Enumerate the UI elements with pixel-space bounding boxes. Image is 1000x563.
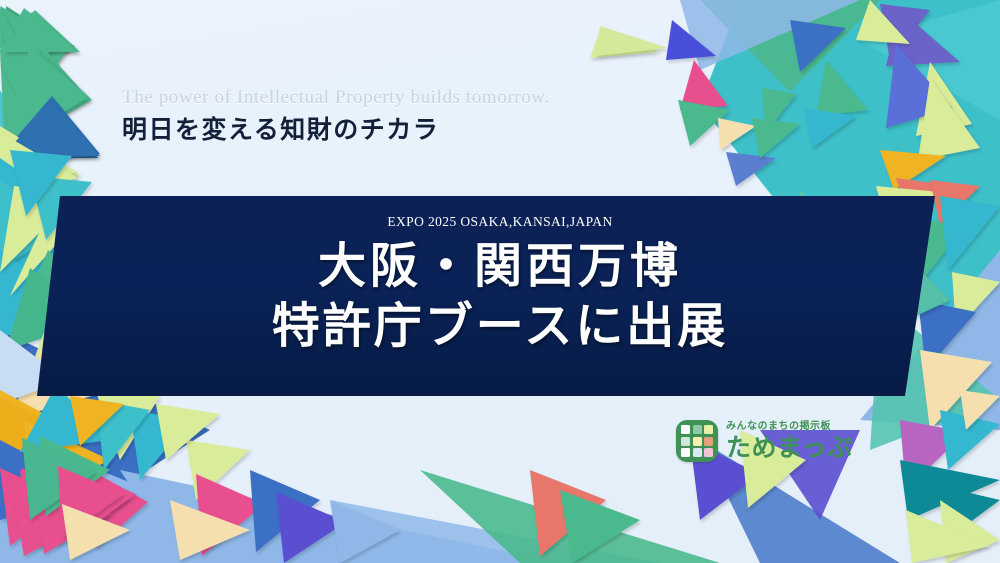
logo-tile-7 — [681, 448, 690, 457]
headline-line-1: 大阪・関西万博 — [318, 238, 682, 294]
logo-tile-2 — [693, 425, 702, 434]
main-banner: EXPO 2025 OSAKA,KANSAI,JAPAN 大阪・関西万博 特許庁… — [0, 196, 1000, 396]
logo-tile-4 — [681, 437, 690, 446]
tagline-english: The power of Intellectual Property build… — [122, 88, 550, 109]
banner-headline: 大阪・関西万博 特許庁ブースに出展 — [272, 236, 729, 357]
logo-wordmark: ためまっぷ — [726, 435, 853, 460]
tagline-block: The power of Intellectual Property build… — [122, 88, 550, 143]
tamemap-logo[interactable]: みんなのまちの掲示板 ためまっぷ — [676, 420, 853, 462]
tagline-japanese: 明日を変える知財のチカラ — [122, 116, 550, 144]
logo-subtitle: みんなのまちの掲示板 — [726, 422, 853, 432]
logo-tile-5 — [693, 437, 702, 446]
expo-eyebrow-text: EXPO 2025 OSAKA,KANSAI,JAPAN — [387, 214, 612, 230]
banner-content: EXPO 2025 OSAKA,KANSAI,JAPAN 大阪・関西万博 特許庁… — [0, 196, 1000, 396]
tamemap-logo-icon — [676, 420, 718, 462]
logo-tile-1 — [681, 425, 690, 434]
headline-line-2: 特許庁ブースに出展 — [272, 296, 729, 356]
tamemap-logo-text: みんなのまちの掲示板 ためまっぷ — [726, 422, 853, 460]
logo-tile-3 — [704, 425, 713, 434]
logo-tile-8 — [693, 448, 702, 457]
poster-canvas: The power of Intellectual Property build… — [0, 0, 1000, 563]
logo-tile-9 — [704, 448, 713, 457]
logo-tile-6 — [704, 437, 713, 446]
